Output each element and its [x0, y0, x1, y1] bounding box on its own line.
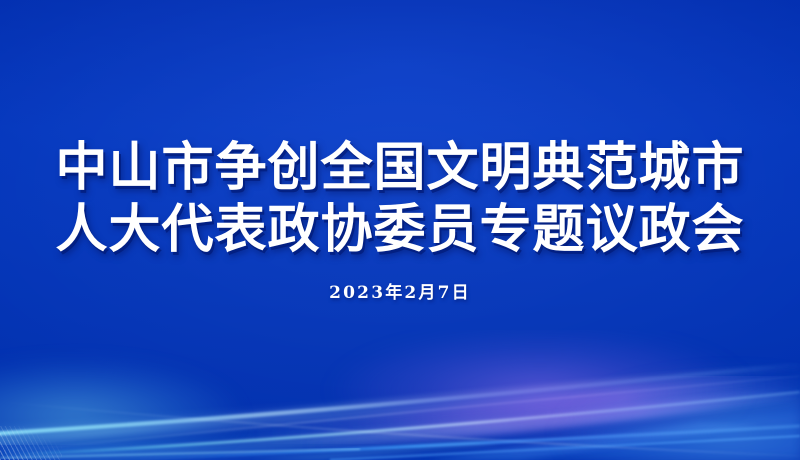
banner-date: 2023年2月7日 [0, 283, 800, 303]
bottom-light-ribbon-artwork [0, 330, 800, 460]
ribbon-svg [0, 330, 800, 460]
event-banner: 中山市争创全国文明典范城市 人大代表政协委员专题议政会 2023年2月7日 [0, 0, 800, 460]
corner-lattice-pattern [0, 426, 62, 460]
banner-title-line-2: 人大代表政协委员专题议政会 [0, 199, 800, 261]
banner-title-line-1: 中山市争创全国文明典范城市 [0, 137, 800, 199]
banner-text-block: 中山市争创全国文明典范城市 人大代表政协委员专题议政会 2023年2月7日 [0, 0, 800, 303]
